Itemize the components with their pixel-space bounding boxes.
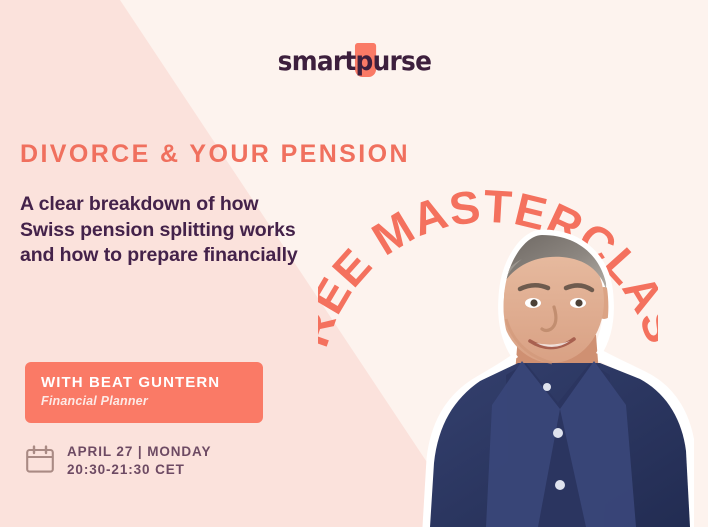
subheading-line-2: Swiss pension splitting works	[20, 218, 298, 244]
masterclass-promo-poster: smartpurse DIVORCE & YOUR PENSION A clea…	[0, 0, 708, 527]
speaker-photo	[414, 227, 694, 527]
logo-text: smartpurse	[277, 46, 431, 77]
logo-wordmark: smartpurse	[277, 48, 431, 75]
event-date: APRIL 27 | MONDAY	[67, 443, 211, 461]
pupil-right	[575, 299, 582, 306]
shirt-button	[555, 480, 565, 490]
speaker-badge: WITH BEAT GUNTERN Financial Planner	[25, 362, 263, 423]
event-time: 20:30-21:30 CET	[67, 461, 211, 479]
page-title: DIVORCE & YOUR PENSION	[20, 140, 410, 169]
subheading-line-1: A clear breakdown of how	[20, 192, 298, 218]
subheading: A clear breakdown of how Swiss pension s…	[20, 192, 298, 269]
event-text: APRIL 27 | MONDAY 20:30-21:30 CET	[67, 443, 211, 479]
subheading-line-3: and how to prepare financially	[20, 243, 298, 269]
speaker-name: WITH BEAT GUNTERN	[41, 374, 247, 392]
event-datetime: APRIL 27 | MONDAY 20:30-21:30 CET	[25, 443, 211, 479]
pupil-left	[530, 299, 537, 306]
smartpurse-logo: smartpurse	[0, 48, 708, 75]
shirt-button	[543, 383, 551, 391]
calendar-icon	[25, 445, 55, 474]
speaker-role: Financial Planner	[41, 393, 247, 410]
shirt-button	[553, 428, 563, 438]
